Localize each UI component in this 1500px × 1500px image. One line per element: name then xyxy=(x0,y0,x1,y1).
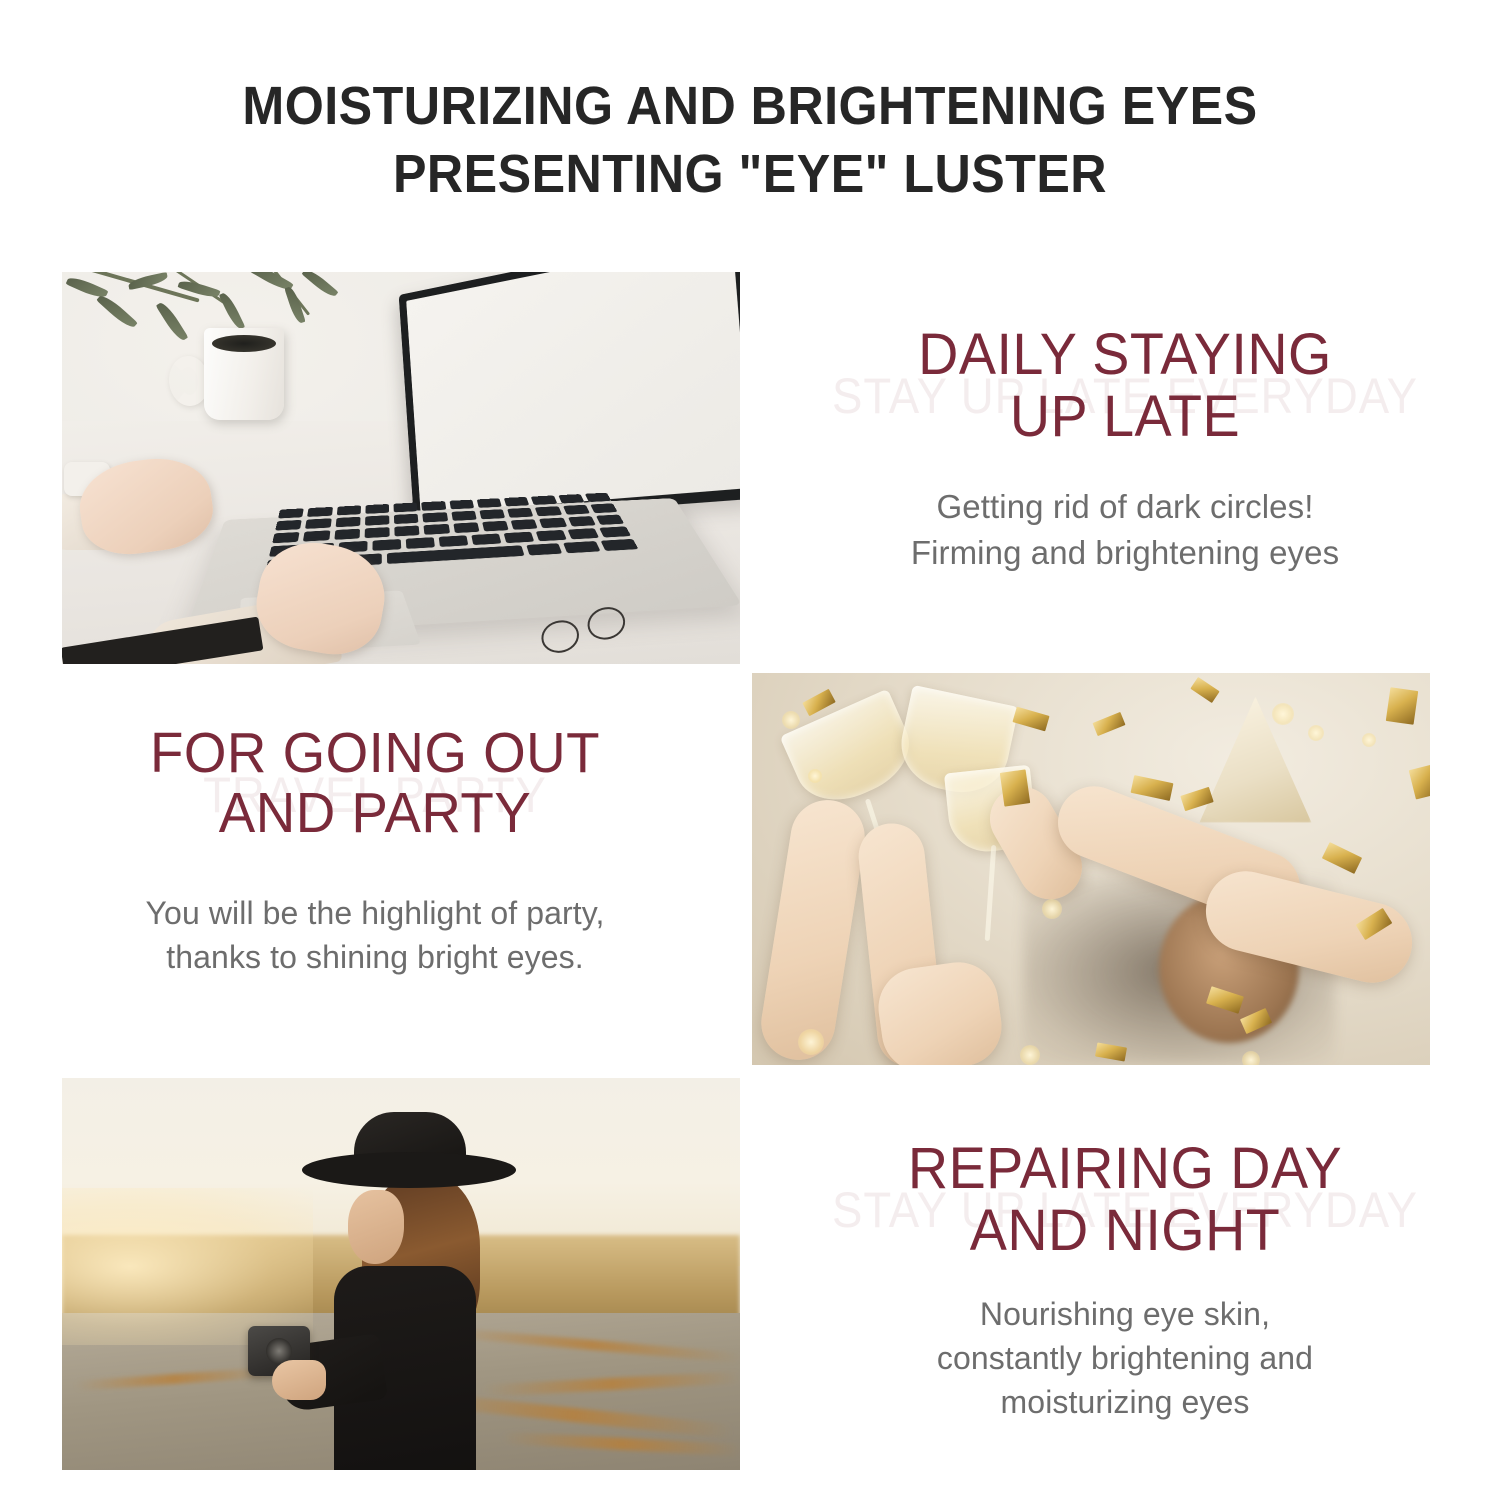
section-1-headline-line-1: DAILY STAYING xyxy=(798,324,1453,386)
text-cell-3: STAY UP LATE EVERYDAY REPAIRING DAY AND … xyxy=(750,1068,1500,1468)
infographic-page: MOISTURIZING AND BRIGHTENING EYES PRESEN… xyxy=(0,0,1500,1500)
photo-cell-3 xyxy=(0,1068,750,1468)
section-2-body-line-2: thanks to shining bright eyes. xyxy=(20,935,730,979)
text-cell-1: STAY UP LATE EVERYDAY DAILY STAYING UP L… xyxy=(750,262,1500,662)
section-3-body-line-1: Nourishing eye skin, xyxy=(780,1292,1470,1336)
section-for-going-out-and-party: TRAVEL PARTY FOR GOING OUT AND PARTY You… xyxy=(0,665,1500,1065)
section-2-body-line-1: You will be the highlight of party, xyxy=(20,891,730,935)
section-1-headline-line-2: UP LATE xyxy=(798,386,1453,448)
page-title-line-2: PRESENTING "EYE" LUSTER xyxy=(53,140,1448,208)
section-2-headline: TRAVEL PARTY FOR GOING OUT AND PARTY xyxy=(34,723,716,843)
page-title-line-1: MOISTURIZING AND BRIGHTENING EYES xyxy=(53,72,1448,140)
section-2-body: You will be the highlight of party, than… xyxy=(20,891,730,979)
section-2-headline-line-2: AND PARTY xyxy=(34,783,716,843)
photo-cell-2 xyxy=(750,665,1500,1065)
section-3-headline: STAY UP LATE EVERYDAY REPAIRING DAY AND … xyxy=(794,1138,1456,1262)
page-title: MOISTURIZING AND BRIGHTENING EYES PRESEN… xyxy=(0,72,1500,208)
section-daily-staying-up-late: STAY UP LATE EVERYDAY DAILY STAYING UP L… xyxy=(0,262,1500,662)
section-1-body-line-2: Firming and brightening eyes xyxy=(784,530,1466,576)
section-1-body-line-1: Getting rid of dark circles! xyxy=(784,484,1466,530)
section-1-headline: STAY UP LATE EVERYDAY DAILY STAYING UP L… xyxy=(798,324,1453,448)
section-3-headline-line-2: AND NIGHT xyxy=(794,1200,1456,1262)
photo-laptop-desk xyxy=(62,272,740,664)
photo-party-toast xyxy=(752,673,1430,1065)
section-3-body-line-3: moisturizing eyes xyxy=(780,1380,1470,1424)
photo-cell-1 xyxy=(0,262,750,662)
section-3-body: Nourishing eye skin, constantly brighten… xyxy=(780,1292,1470,1424)
photo-woman-outdoors xyxy=(62,1078,740,1470)
section-1-body: Getting rid of dark circles! Firming and… xyxy=(784,484,1466,576)
section-2-headline-line-1: FOR GOING OUT xyxy=(34,723,716,783)
section-3-headline-line-1: REPAIRING DAY xyxy=(794,1138,1456,1200)
section-3-body-line-2: constantly brightening and xyxy=(780,1336,1470,1380)
section-repairing-day-and-night: STAY UP LATE EVERYDAY REPAIRING DAY AND … xyxy=(0,1068,1500,1468)
text-cell-2: TRAVEL PARTY FOR GOING OUT AND PARTY You… xyxy=(0,665,750,1065)
